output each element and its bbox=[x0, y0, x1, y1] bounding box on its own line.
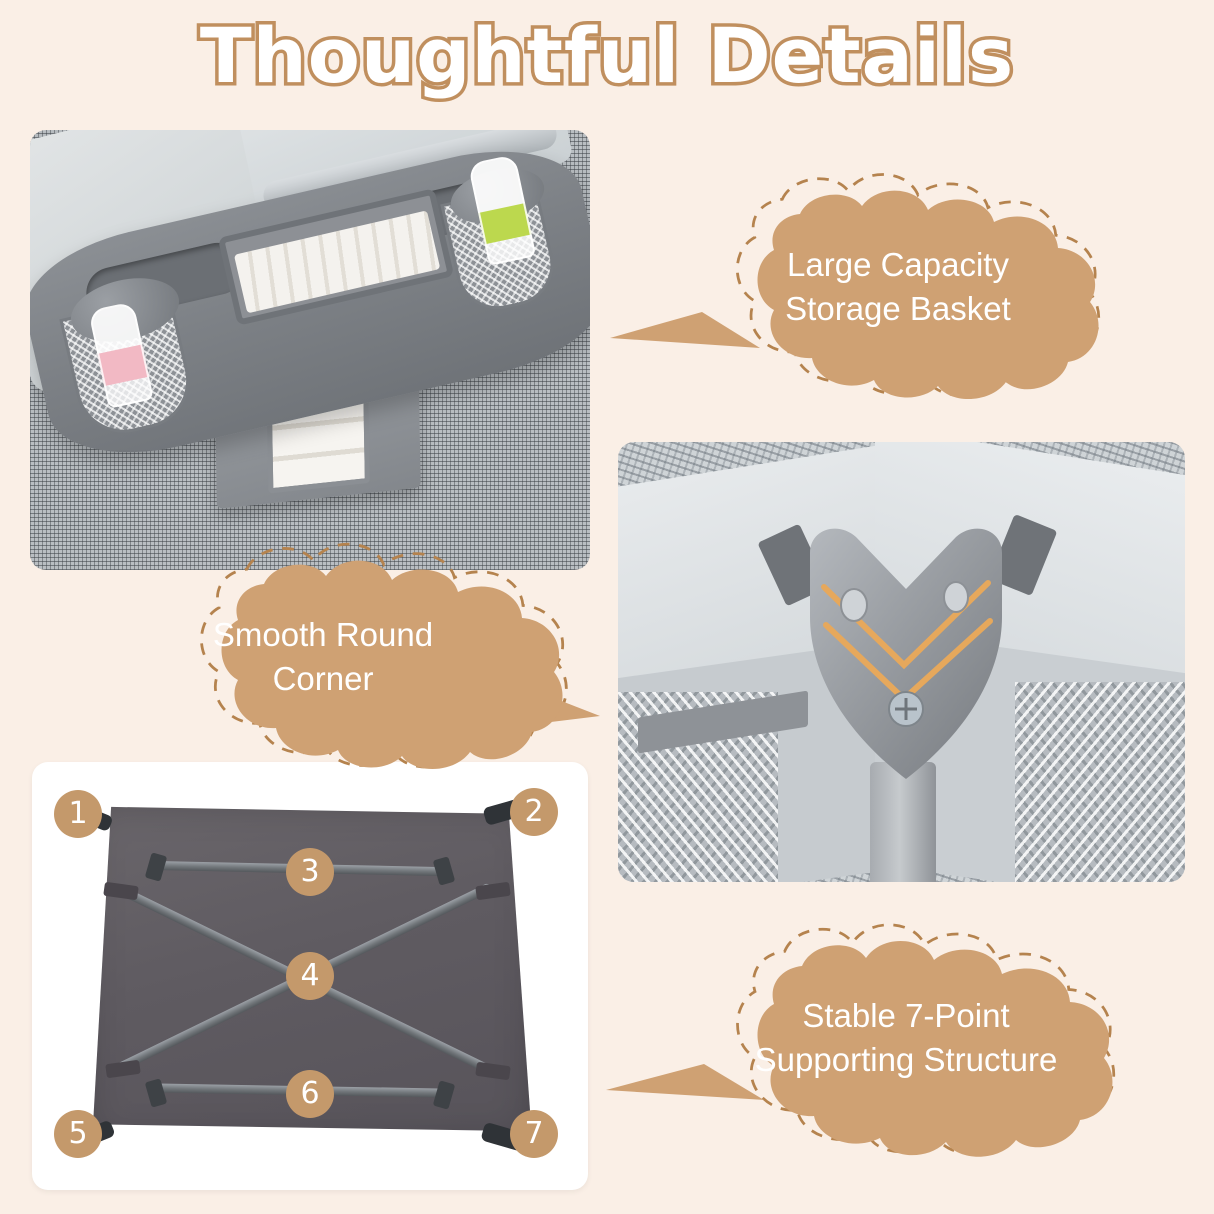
point-badge-3: 3 bbox=[286, 848, 334, 896]
structure-diagram-panel: 1 2 3 4 5 6 7 bbox=[32, 762, 588, 1190]
point-badge-2: 2 bbox=[510, 788, 558, 836]
point-badge-4: 4 bbox=[286, 952, 334, 1000]
page-title: Thoughtful Details bbox=[0, 14, 1214, 98]
organizer-photo bbox=[30, 130, 590, 570]
callout-storage-basket: Large Capacity Storage Basket bbox=[600, 178, 1160, 404]
rounded-corner-cap bbox=[796, 517, 1016, 787]
callout-supporting-structure: Stable 7-Point Supporting Structure bbox=[596, 928, 1168, 1160]
organizer-photo-scene bbox=[30, 130, 590, 570]
corner-photo-scene bbox=[618, 442, 1185, 882]
point-badge-5: 5 bbox=[54, 1110, 102, 1158]
point-badge-6: 6 bbox=[286, 1070, 334, 1118]
corner-photo bbox=[618, 442, 1185, 882]
callout-round-corner: Smooth Round Corner bbox=[80, 552, 610, 774]
mesh-window-right bbox=[1015, 682, 1185, 882]
point-badge-1: 1 bbox=[54, 790, 102, 838]
infographic-stage: Thoughtful Details bbox=[0, 0, 1214, 1214]
point-badge-7: 7 bbox=[510, 1110, 558, 1158]
